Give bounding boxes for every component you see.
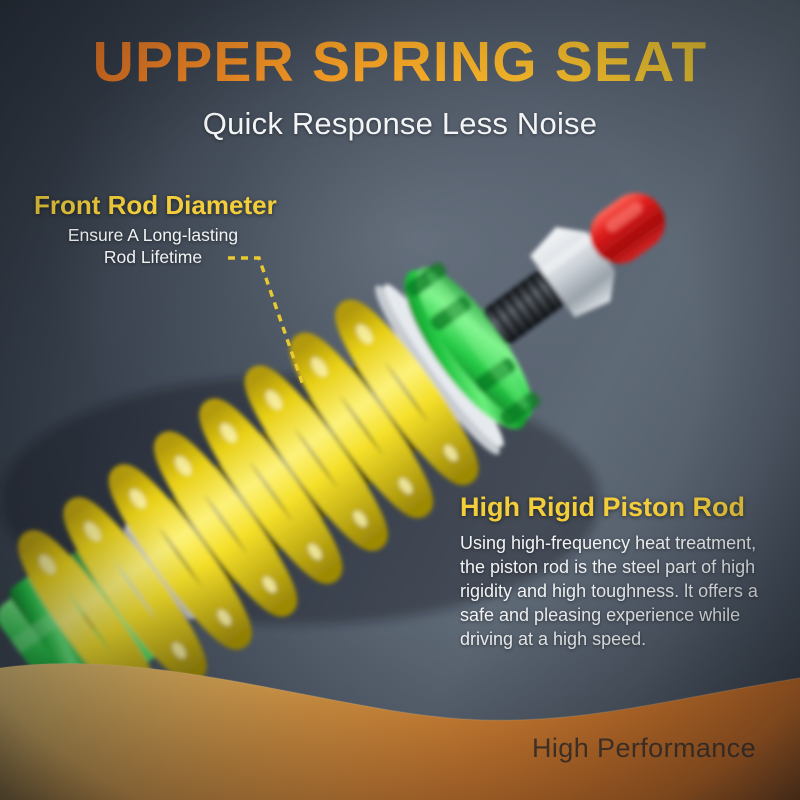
product-poster: UPPER SPRING SEAT Quick Response Less No… <box>0 0 800 800</box>
bottom-banner <box>0 0 800 800</box>
banner-label: High Performance <box>532 733 756 764</box>
